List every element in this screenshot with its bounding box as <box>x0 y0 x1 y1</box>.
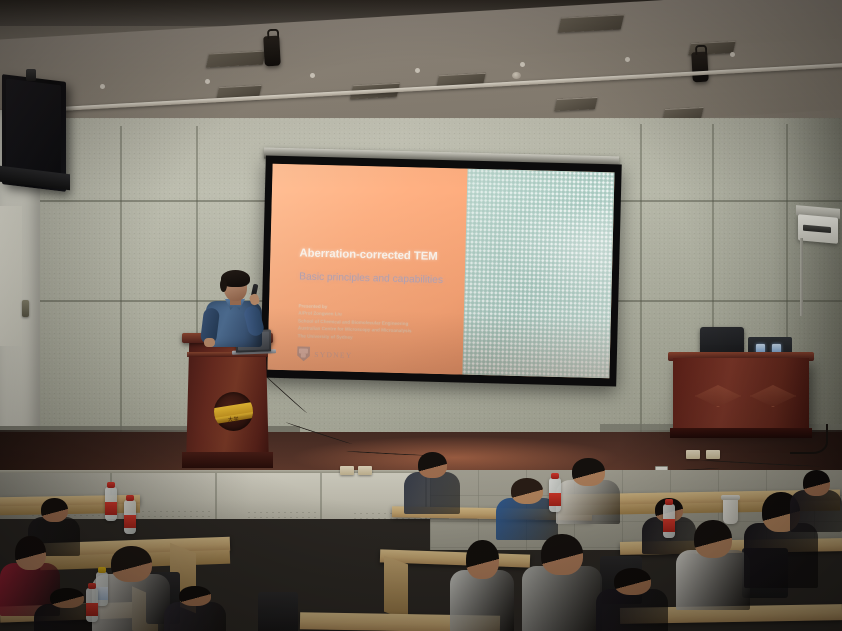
cable-clip <box>415 68 420 73</box>
water-bottle[interactable] <box>663 504 675 538</box>
smoke-detector-icon <box>512 72 521 79</box>
audience-head <box>50 588 84 608</box>
audience-head <box>466 540 499 579</box>
cable-clip <box>205 79 210 84</box>
cup-lid <box>721 495 740 500</box>
podium-base <box>182 452 273 468</box>
audience-member <box>790 470 842 532</box>
cable-clip <box>625 57 630 62</box>
audience-head <box>41 498 68 522</box>
water-bottle[interactable] <box>86 588 98 622</box>
water-bottle[interactable] <box>124 500 136 534</box>
skirt-seam <box>215 473 217 521</box>
audience-torso <box>522 566 602 631</box>
bottle-label <box>663 519 675 532</box>
presenter-left-hand <box>204 338 215 347</box>
lecture-hall-photo: JBL Aberration-corrected TEM Basic princ… <box>0 0 842 631</box>
audience-member <box>404 452 460 514</box>
audience-member <box>164 586 226 631</box>
desk-end-panel <box>384 556 408 621</box>
floor-power-outlet[interactable] <box>340 466 354 475</box>
bottle-cap <box>665 499 673 505</box>
audience-head <box>572 458 605 486</box>
audience-member <box>556 458 620 524</box>
floor-power-outlet[interactable] <box>706 450 720 459</box>
cable-clip <box>100 84 105 89</box>
cable-clip <box>730 52 735 57</box>
water-bottle[interactable] <box>549 478 561 512</box>
screen-surface: Aberration-corrected TEM Basic principle… <box>267 164 614 379</box>
audience-torso <box>676 550 750 610</box>
wall-seam-v1 <box>120 126 122 462</box>
audience-member <box>676 520 750 610</box>
floor-power-outlet[interactable] <box>358 466 372 475</box>
podium-emblem: 大学 <box>214 392 253 431</box>
av-power-cord <box>790 424 828 454</box>
bottle-cap <box>98 567 106 573</box>
bottle-label <box>549 493 561 506</box>
audience-head <box>694 520 732 558</box>
floor-power-outlet[interactable] <box>686 450 700 459</box>
screen-bottom-falloff <box>267 308 610 378</box>
side-door[interactable] <box>0 206 22 346</box>
audience-member <box>522 534 602 631</box>
bottle-cap <box>551 473 559 479</box>
emblem-text: 大学 <box>214 416 253 423</box>
wall-seam-v3 <box>640 124 642 460</box>
wall-projector-unit <box>798 214 838 243</box>
ceiling <box>0 0 842 132</box>
audience-torso <box>790 490 842 532</box>
bottle-cap <box>88 583 96 589</box>
audience-torso <box>164 602 226 631</box>
ceiling-vent <box>554 97 597 111</box>
audience-torso <box>744 523 818 588</box>
skirt-seam <box>320 473 322 521</box>
audience-head <box>179 586 211 606</box>
chair-back <box>258 592 298 631</box>
bottle-label <box>86 603 98 616</box>
audience-head <box>614 568 651 595</box>
audience-head <box>418 452 447 478</box>
bottle-cap <box>107 482 115 488</box>
podium: 大学 <box>186 338 269 466</box>
audience-torso <box>450 570 514 631</box>
wall-unit-vent <box>803 225 831 233</box>
wall-conduit <box>800 238 803 316</box>
audience-head <box>803 470 830 496</box>
audience-head <box>15 536 46 570</box>
audience-torso <box>556 480 620 524</box>
bottle-label <box>105 502 117 515</box>
audience-head <box>541 534 583 575</box>
skirt-vent <box>140 509 210 519</box>
audience-torso <box>596 589 668 631</box>
audience-head <box>111 546 152 582</box>
speaker-bracket <box>26 69 36 81</box>
paper-cup[interactable] <box>723 498 738 524</box>
water-bottle[interactable] <box>105 487 117 521</box>
bottle-label <box>124 515 136 528</box>
ceiling-spotlight <box>691 52 709 83</box>
ceiling-spotlight <box>263 36 281 67</box>
screen-glare <box>495 206 615 302</box>
presenter-hair-side <box>220 278 227 292</box>
audience-member <box>450 540 514 631</box>
bottle-cap <box>126 495 134 501</box>
projection-screen: Aberration-corrected TEM Basic principle… <box>260 156 622 387</box>
audience-member <box>596 568 668 631</box>
door-handle-icon[interactable] <box>22 300 29 317</box>
audience-head <box>511 478 543 504</box>
audience-torso <box>404 472 460 514</box>
presenter <box>202 268 264 346</box>
